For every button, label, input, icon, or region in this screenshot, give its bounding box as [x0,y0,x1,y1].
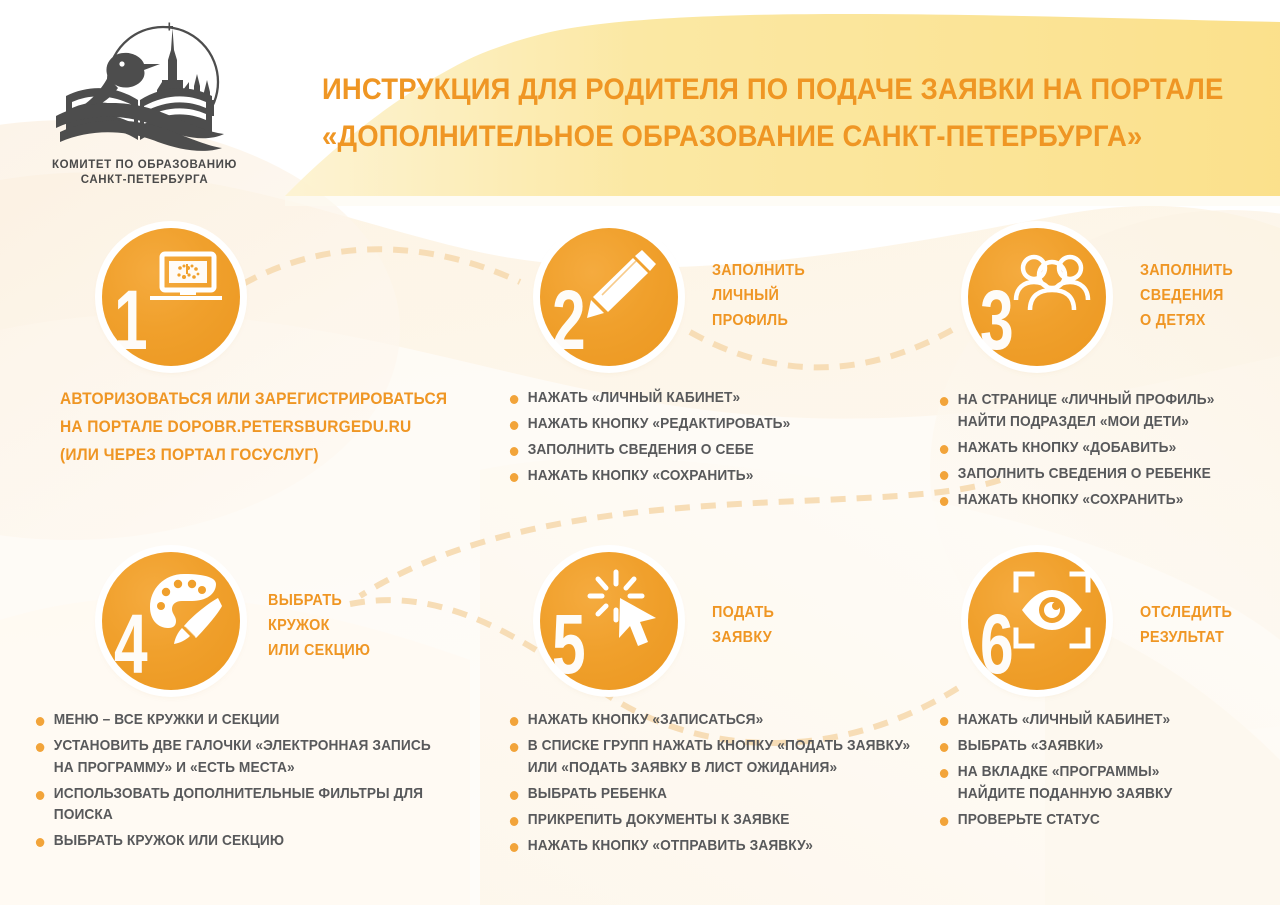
bullet-text: ВЫБРАТЬ РЕБЕНКА [528,786,667,802]
list-item: НА ВКЛАДКЕ «ПРОГРАММЫ» [938,762,1248,783]
step-3-bullets: НА СТРАНИЦЕ «ЛИЧНЫЙ ПРОФИЛЬ» НАЙТИ ПОДРА… [938,390,1268,516]
bullet-text: НАЖАТЬ КНОПКУ «ЗАПИСАТЬСЯ» [528,712,764,728]
step-2-label-line-1: ЗАПОЛНИТЬ [712,258,805,283]
step-1-circle: 1 [102,228,240,366]
step-4-label-line-3: ИЛИ СЕКЦИЮ [268,638,370,663]
bullet-text: НАЖАТЬ КНОПКУ «РЕДАКТИРОВАТЬ» [528,416,791,432]
step-4: 4 [102,552,240,690]
list-item: ЗАПОЛНИТЬ СВЕДЕНИЯ О РЕБЕНКЕ [938,464,1248,485]
step-3-label: ЗАПОЛНИТЬ СВЕДЕНИЯ О ДЕТЯХ [1140,258,1233,333]
bullet-text-cont: ИЛИ «ПОДАТЬ ЗАЯВКУ В ЛИСТ ОЖИДАНИЯ» [528,760,837,776]
list-item: НА СТРАНИЦЕ «ЛИЧНЫЙ ПРОФИЛЬ» [938,390,1248,411]
step-5-number: 5 [552,602,584,686]
list-item: НАЖАТЬ КНОПКУ «РЕДАКТИРОВАТЬ» [508,414,922,435]
step-4-label: ВЫБРАТЬ КРУЖОК ИЛИ СЕКЦИЮ [268,588,370,663]
step-1-number: 1 [114,278,146,362]
bullet-text: УСТАНОВИТЬ ДВЕ ГАЛОЧКИ «ЭЛЕКТРОННАЯ ЗАПИ… [54,738,431,754]
list-item: НАЖАТЬ КНОПКУ «ДОБАВИТЬ» [938,438,1248,459]
bullet-text: ВЫБРАТЬ «ЗАЯВКИ» [958,738,1104,754]
bullet-text: ЗАПОЛНИТЬ СВЕДЕНИЯ О РЕБЕНКЕ [958,466,1211,482]
step-6-label-line-1: ОТСЛЕДИТЬ [1140,600,1232,625]
pencil-icon [582,244,666,328]
step-3-label-line-2: СВЕДЕНИЯ [1140,283,1233,308]
title-line-1: ИНСТРУКЦИЯ ДЛЯ РОДИТЕЛЯ ПО ПОДАЧЕ ЗАЯВКИ… [322,66,1127,113]
step-5-label-line-2: ЗАЯВКУ [712,625,774,650]
bullet-text: НАЖАТЬ КНОПКУ «СОХРАНИТЬ» [528,468,754,484]
list-item: УСТАНОВИТЬ ДВЕ ГАЛОЧКИ «ЭЛЕКТРОННАЯ ЗАПИ… [34,736,466,757]
laptop-icon [144,244,228,328]
step-3-label-line-1: ЗАПОЛНИТЬ [1140,258,1233,283]
step-5-bullets: НАЖАТЬ КНОПКУ «ЗАПИСАТЬСЯ» В СПИСКЕ ГРУП… [508,710,968,862]
list-item: НАЖАТЬ КНОПКУ «СОХРАНИТЬ» [508,466,922,487]
bullet-text: НА СТРАНИЦЕ «ЛИЧНЫЙ ПРОФИЛЬ» [958,392,1215,408]
list-item: ВЫБРАТЬ КРУЖОК ИЛИ СЕКЦИЮ [34,831,466,852]
bullet-text: ПРОВЕРЬТЕ СТАТУС [958,812,1100,828]
step-5: 5 [540,552,678,690]
list-item-continuation: ИЛИ «ПОДАТЬ ЗАЯВКУ В ЛИСТ ОЖИДАНИЯ» [508,758,940,779]
step-1-caption-line-1: АВТОРИЗОВАТЬСЯ ИЛИ ЗАРЕГИСТРИРОВАТЬСЯ [60,385,447,413]
list-item-continuation: НА ПРОГРАММУ» И «ЕСТЬ МЕСТА» [34,758,466,779]
step-5-label: ПОДАТЬ ЗАЯВКУ [712,600,774,650]
list-item: МЕНЮ – ВСЕ КРУЖКИ И СЕКЦИИ [34,710,466,731]
eye-focus-icon [1010,568,1094,652]
bullet-text: НАЖАТЬ КНОПКУ «СОХРАНИТЬ» [958,492,1184,508]
step-4-label-line-2: КРУЖОК [268,613,370,638]
bullet-text: ПРИКРЕПИТЬ ДОКУМЕНТЫ К ЗАЯВКЕ [528,812,790,828]
step-6-number: 6 [980,602,1012,686]
bullet-text: В СПИСКЕ ГРУПП НАЖАТЬ КНОПКУ «ПОДАТЬ ЗАЯ… [528,738,911,754]
step-6: 6 [968,552,1106,690]
bullet-text-cont: НАЙДИТЕ ПОДАННУЮ ЗАЯВКУ [958,786,1173,802]
logo-caption-line-2: САНКТ-ПЕТЕРБУРГА [42,173,247,188]
logo-caption-line-1: КОМИТЕТ ПО ОБРАЗОВАНИЮ [42,158,247,173]
list-item: НАЖАТЬ «ЛИЧНЫЙ КАБИНЕТ» [508,388,922,409]
step-3-label-line-3: О ДЕТЯХ [1140,308,1233,333]
step-2-circle: 2 [540,228,678,366]
bullet-text: НАЖАТЬ КНОПКУ «ОТПРАВИТЬ ЗАЯВКУ» [528,838,813,854]
bullet-text: ИСПОЛЬЗОВАТЬ ДОПОЛНИТЕЛЬНЫЕ ФИЛЬТРЫ ДЛЯ … [54,786,423,823]
step-6-label-line-2: РЕЗУЛЬТАТ [1140,625,1232,650]
bullet-text: НАЖАТЬ «ЛИЧНЫЙ КАБИНЕТ» [958,712,1170,728]
step-4-label-line-1: ВЫБРАТЬ [268,588,370,613]
step-4-circle: 4 [102,552,240,690]
title-line-2: «ДОПОЛНИТЕЛЬНОЕ ОБРАЗОВАНИЕ САНКТ-ПЕТЕРБ… [322,113,1127,160]
step-2-label-line-3: ПРОФИЛЬ [712,308,805,333]
list-item: ИСПОЛЬЗОВАТЬ ДОПОЛНИТЕЛЬНЫЕ ФИЛЬТРЫ ДЛЯ … [34,784,466,826]
step-2-label-line-2: ЛИЧНЫЙ [712,283,805,308]
step-3: 3 [968,228,1106,366]
step-1-caption-line-3: (ИЛИ ЧЕРЕЗ ПОРТАЛ ГОСУСЛУГ) [60,441,447,469]
bullet-text: НА ВКЛАДКЕ «ПРОГРАММЫ» [958,764,1160,780]
bullet-text: МЕНЮ – ВСЕ КРУЖКИ И СЕКЦИИ [54,712,280,728]
step-3-circle: 3 [968,228,1106,366]
list-item: ПРОВЕРЬТЕ СТАТУС [938,810,1248,831]
list-item: В СПИСКЕ ГРУПП НАЖАТЬ КНОПКУ «ПОДАТЬ ЗАЯ… [508,736,940,757]
list-item: ЗАПОЛНИТЬ СВЕДЕНИЯ О СЕБЕ [508,440,922,461]
bullet-text-cont: НА ПРОГРАММУ» И «ЕСТЬ МЕСТА» [54,760,295,776]
cursor-click-icon [582,568,666,652]
step-5-label-line-1: ПОДАТЬ [712,600,774,625]
step-5-circle: 5 [540,552,678,690]
step-2-number: 2 [552,278,584,362]
list-item: ПРИКРЕПИТЬ ДОКУМЕНТЫ К ЗАЯВКЕ [508,810,940,831]
bullet-text: НАЖАТЬ КНОПКУ «ДОБАВИТЬ» [958,440,1177,456]
list-item: НАЖАТЬ КНОПКУ «СОХРАНИТЬ» [938,490,1248,511]
step-2: 2 [540,228,678,366]
list-item-continuation: НАЙДИТЕ ПОДАННУЮ ЗАЯВКУ [938,784,1248,805]
bullet-text: ВЫБРАТЬ КРУЖОК ИЛИ СЕКЦИЮ [54,833,284,849]
list-item-continuation: НАЙТИ ПОДРАЗДЕЛ «МОИ ДЕТИ» [938,412,1248,433]
step-3-number: 3 [980,278,1012,362]
step-4-bullets: МЕНЮ – ВСЕ КРУЖКИ И СЕКЦИИ УСТАНОВИТЬ ДВ… [34,710,494,857]
list-item: ВЫБРАТЬ «ЗАЯВКИ» [938,736,1248,757]
committee-logo: КОМИТЕТ ПО ОБРАЗОВАНИЮ САНКТ-ПЕТЕРБУРГА [42,20,247,195]
page-title: ИНСТРУКЦИЯ ДЛЯ РОДИТЕЛЯ ПО ПОДАЧЕ ЗАЯВКИ… [322,66,1202,160]
palette-brush-icon [144,568,228,652]
list-item: НАЖАТЬ «ЛИЧНЫЙ КАБИНЕТ» [938,710,1248,731]
step-4-number: 4 [114,602,146,686]
logo-emblem-icon [42,20,247,160]
step-6-circle: 6 [968,552,1106,690]
step-1: 1 [102,228,240,366]
step-1-caption-line-2: НА ПОРТАЛЕ DOPOBR.PETERSBURGEDU.RU [60,413,447,441]
step-2-bullets: НАЖАТЬ «ЛИЧНЫЙ КАБИНЕТ» НАЖАТЬ КНОПКУ «Р… [508,388,948,492]
step-2-label: ЗАПОЛНИТЬ ЛИЧНЫЙ ПРОФИЛЬ [712,258,805,333]
infographic-canvas: КОМИТЕТ ПО ОБРАЗОВАНИЮ САНКТ-ПЕТЕРБУРГА … [0,0,1280,905]
bullet-text: НАЖАТЬ «ЛИЧНЫЙ КАБИНЕТ» [528,390,740,406]
bullet-text-cont: НАЙТИ ПОДРАЗДЕЛ «МОИ ДЕТИ» [958,414,1189,430]
list-item: НАЖАТЬ КНОПКУ «ОТПРАВИТЬ ЗАЯВКУ» [508,836,940,857]
bullet-text: ЗАПОЛНИТЬ СВЕДЕНИЯ О СЕБЕ [528,442,754,458]
list-item: ВЫБРАТЬ РЕБЕНКА [508,784,940,805]
list-item: НАЖАТЬ КНОПКУ «ЗАПИСАТЬСЯ» [508,710,940,731]
step-6-label: ОТСЛЕДИТЬ РЕЗУЛЬТАТ [1140,600,1232,650]
step-6-bullets: НАЖАТЬ «ЛИЧНЫЙ КАБИНЕТ» ВЫБРАТЬ «ЗАЯВКИ»… [938,710,1268,836]
people-group-icon [1010,244,1094,328]
step-1-caption: АВТОРИЗОВАТЬСЯ ИЛИ ЗАРЕГИСТРИРОВАТЬСЯ НА… [60,385,447,469]
page-header: КОМИТЕТ ПО ОБРАЗОВАНИЮ САНКТ-ПЕТЕРБУРГА … [0,0,1280,200]
